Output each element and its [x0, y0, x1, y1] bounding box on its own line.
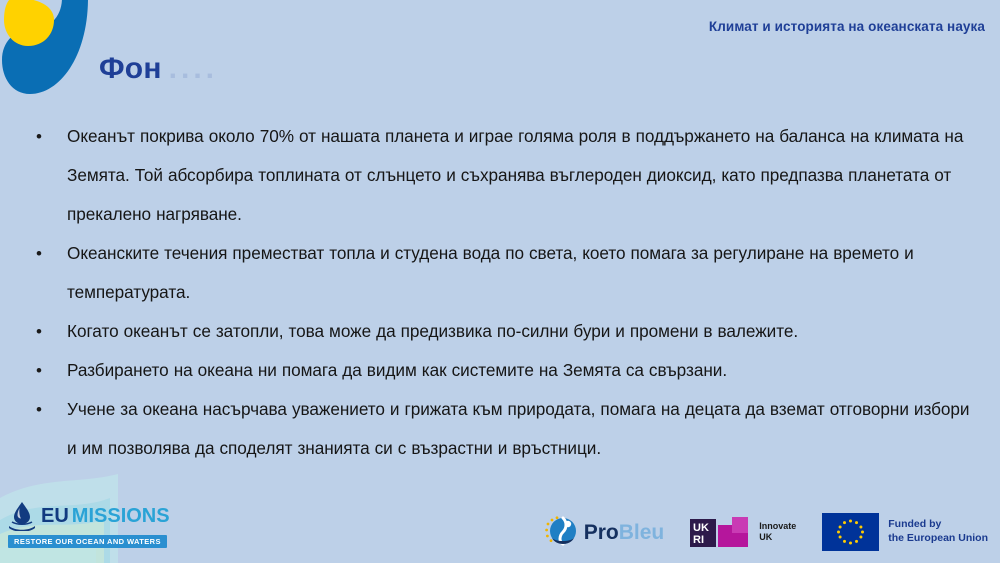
bullet-text: Когато океанът се затопли, това може да …: [67, 312, 980, 351]
bullet-text: Океанските течения преместват топла и ст…: [67, 234, 980, 312]
eu-missions-missions-text: MISSIONS: [72, 505, 170, 527]
bullet-text: Океанът покрива около 70% от нашата план…: [67, 117, 980, 234]
list-item: • Учене за океана насърчава уважението и…: [30, 390, 980, 468]
bullet-marker-icon: •: [30, 312, 67, 351]
eu-missions-logo: EUMISSIONS RESTORE OUR OCEAN AND WATERS: [8, 501, 168, 549]
probleu-globe-icon: [544, 516, 578, 548]
eu-missions-eu-text: EU: [41, 505, 69, 527]
bullet-marker-icon: •: [30, 351, 67, 390]
list-item: • Океанът покрива около 70% от нашата пл…: [30, 117, 980, 234]
bullet-marker-icon: •: [30, 234, 67, 273]
list-item: • Океанските течения преместват топла и …: [30, 234, 980, 312]
eu-funded-line2: the European Union: [888, 532, 988, 546]
water-droplet-icon: [8, 501, 36, 531]
probleu-pro-text: Pro: [584, 521, 619, 544]
eu-funded-logo: Funded by the European Union: [822, 513, 988, 551]
ukri-blocks-icon: UK RI: [690, 515, 752, 549]
bullet-marker-icon: •: [30, 117, 67, 156]
probleu-bleu-text: Bleu: [619, 521, 665, 544]
probleu-logo: ProBleu: [544, 516, 665, 548]
innovate-uk-line2: UK: [759, 532, 796, 543]
slide: Климат и историята на океанската наука Ф…: [0, 0, 1000, 563]
eu-funded-text: Funded by the European Union: [888, 518, 988, 546]
innovate-uk-text: Innovate UK: [759, 521, 796, 544]
eu-missions-tagline: RESTORE OUR OCEAN AND WATERS: [8, 535, 167, 548]
eu-flag-icon: [822, 513, 879, 551]
footer-logo-strip: ProBleu UK RI Innovate UK: [544, 513, 988, 551]
bullet-marker-icon: •: [30, 390, 67, 429]
page-title: Фон ....: [99, 52, 218, 86]
ukri-innovate-uk-logo: UK RI Innovate UK: [690, 515, 796, 549]
bullet-text: Учене за океана насърчава уважението и г…: [67, 390, 980, 468]
eu-missions-logo-top: EUMISSIONS: [8, 501, 168, 531]
svg-text:UK: UK: [693, 522, 709, 534]
title-trailing-dots: ....: [169, 52, 218, 86]
innovate-uk-line1: Innovate: [759, 521, 796, 532]
bullet-text: Разбирането на океана ни помага да видим…: [67, 351, 980, 390]
svg-text:RI: RI: [693, 534, 704, 546]
list-item: • Когато океанът се затопли, това може д…: [30, 312, 980, 351]
eu-funded-line1: Funded by: [888, 518, 988, 532]
eu-missions-wordmark: EUMISSIONS: [41, 506, 170, 526]
brand-logo-mark: [0, 0, 100, 99]
page-title-text: Фон: [99, 54, 162, 84]
list-item: • Разбирането на океана ни помага да вид…: [30, 351, 980, 390]
bullet-list: • Океанът покрива около 70% от нашата пл…: [30, 117, 980, 468]
probleu-wordmark: ProBleu: [584, 522, 665, 543]
slide-header-title: Климат и историята на океанската наука: [709, 19, 985, 34]
